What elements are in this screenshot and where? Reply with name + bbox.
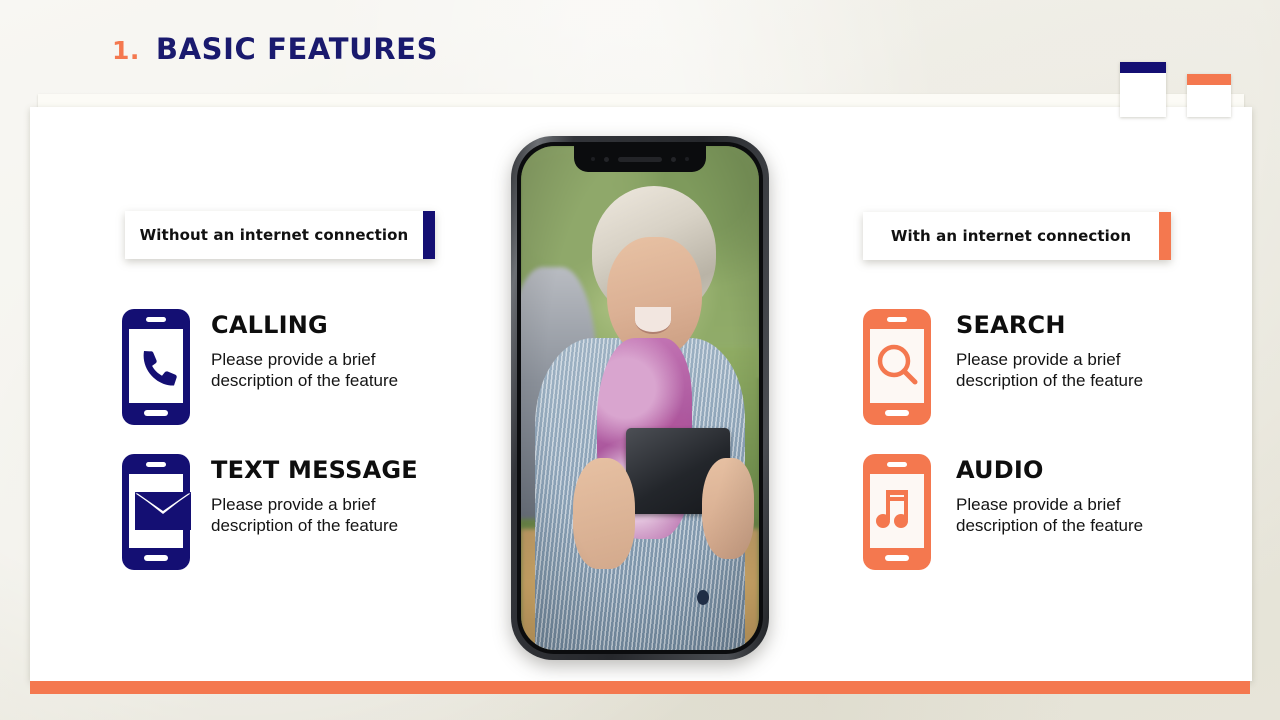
phone-notch (574, 146, 706, 172)
orange-bottom-bar (30, 681, 1250, 694)
feature-text-message: TEXT MESSAGE Please provide a brief desc… (121, 452, 418, 572)
proximity-sensor-icon (671, 157, 676, 162)
magnifier-icon (862, 307, 932, 427)
feature-audio-description: Please provide a brief description of th… (956, 494, 1143, 537)
earpiece-speaker (618, 157, 662, 162)
feature-text-message-description: Please provide a brief description of th… (211, 494, 418, 537)
feature-calling-description: Please provide a brief description of th… (211, 349, 398, 392)
feature-calling-title: CALLING (211, 313, 398, 337)
ambient-sensor-icon (685, 157, 689, 161)
feature-audio-title: AUDIO (956, 458, 1143, 482)
feature-search: SEARCH Please provide a brief descriptio… (862, 307, 1143, 427)
page-title: 1. BASIC FEATURES (112, 32, 438, 66)
feature-calling-text: CALLING Please provide a brief descripti… (211, 307, 398, 392)
phone-call-icon (121, 307, 191, 427)
title-text: BASIC FEATURES (156, 32, 438, 66)
section-accent-bar-orange (1159, 212, 1171, 260)
feature-search-text: SEARCH Please provide a brief descriptio… (952, 307, 1143, 392)
feature-audio-text: AUDIO Please provide a brief description… (952, 452, 1143, 537)
envelope-icon (121, 452, 191, 572)
photo-elderly-woman-using-phone (521, 146, 759, 650)
feature-text-message-title: TEXT MESSAGE (211, 458, 418, 482)
feature-text-message-text: TEXT MESSAGE Please provide a brief desc… (211, 452, 418, 537)
smartphone-mockup (511, 136, 769, 660)
front-camera-icon (604, 157, 609, 162)
navy-tab-card (1120, 62, 1166, 117)
phone-screen (521, 146, 759, 650)
section-label-offline-text: Without an internet connection (125, 226, 423, 244)
phone-bezel (517, 142, 763, 654)
feature-search-description: Please provide a brief description of th… (956, 349, 1143, 392)
front-sensor-icon (591, 157, 595, 161)
orange-tab-card (1187, 74, 1231, 117)
feature-calling: CALLING Please provide a brief descripti… (121, 307, 398, 427)
title-number: 1. (112, 36, 140, 65)
feature-search-title: SEARCH (956, 313, 1143, 337)
music-note-icon (862, 452, 932, 572)
photo-vignette (521, 146, 759, 650)
section-label-offline: Without an internet connection (125, 211, 435, 259)
section-label-online: With an internet connection (863, 212, 1171, 260)
section-label-online-text: With an internet connection (863, 227, 1159, 245)
feature-audio: AUDIO Please provide a brief description… (862, 452, 1143, 572)
section-accent-bar-navy (423, 211, 435, 259)
